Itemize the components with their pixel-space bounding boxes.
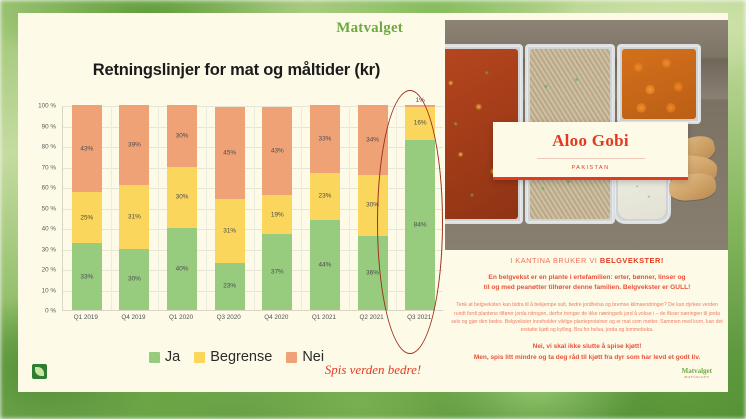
bar-segment-beg[interactable]: 19% xyxy=(262,195,292,234)
bar-value-label: 43% xyxy=(72,145,102,152)
bar-segment-beg[interactable]: 31% xyxy=(215,199,245,263)
lead-line-2: til og med peanøtter tilhører denne fami… xyxy=(451,283,723,293)
footer-slogan: Spis verden bedre! xyxy=(18,362,728,378)
y-axis-tick: 70 % xyxy=(42,164,56,171)
bar-stack[interactable]: 30%31%39% xyxy=(119,105,149,310)
y-axis-tick: 60 % xyxy=(42,185,56,192)
bar-segment-ja[interactable]: 30% xyxy=(119,249,149,311)
lead-line-1: En belgvekst er en plante i ertefamilien… xyxy=(451,273,723,283)
bar-segment-nei[interactable]: 43% xyxy=(262,107,292,195)
bar-segment-beg[interactable]: 16% xyxy=(405,107,435,139)
bar-segment-beg[interactable]: 25% xyxy=(72,192,102,243)
gridline-vertical xyxy=(206,106,207,310)
x-axis-tick: Q3 2020 xyxy=(206,314,252,321)
bar-value-label: 33% xyxy=(310,135,340,142)
bar-value-label: 30% xyxy=(167,132,197,139)
gridline-vertical xyxy=(349,106,350,310)
bar-value-label: 30% xyxy=(119,276,149,283)
x-axis-tick: Q4 2019 xyxy=(110,314,156,321)
y-axis: 0 %10 %20 %30 %40 %50 %60 %70 %80 %90 %1… xyxy=(26,106,60,311)
y-axis-tick: 50 % xyxy=(42,205,56,212)
y-axis-tick: 0 % xyxy=(45,308,56,315)
bar-segment-ja[interactable]: 44% xyxy=(310,220,340,310)
bar-stack[interactable]: 44%23%33% xyxy=(310,105,340,310)
y-axis-tick: 10 % xyxy=(42,287,56,294)
food-photograph: Aloo Gobi PAKISTAN xyxy=(445,20,728,250)
gridline-vertical xyxy=(158,106,159,310)
dish-name: Aloo Gobi xyxy=(493,131,688,151)
chart-panel: Matvalget Retningslinjer for mat og målt… xyxy=(18,13,455,392)
footer-brand-sub: MATVALGET xyxy=(682,375,712,379)
bar-stack[interactable]: 37%19%43% xyxy=(262,105,292,310)
chart-title: Retningslinjer for mat og måltider (kr) xyxy=(18,61,455,80)
poster-lead: En belgvekst er en plante i ertefamilien… xyxy=(451,273,723,293)
bar-segment-nei[interactable]: 45% xyxy=(215,107,245,199)
bar-segment-ja[interactable]: 40% xyxy=(167,228,197,310)
poster-text-block: I KANTINA BRUKER VI BELGVEKSTER! En belg… xyxy=(451,256,723,363)
carrot-dish xyxy=(622,49,696,119)
bar-value-label: 19% xyxy=(262,211,292,218)
bar-value-label: 44% xyxy=(310,261,340,268)
bar-segment-nei[interactable]: 34% xyxy=(358,105,388,175)
bar-value-label: 1% xyxy=(405,97,435,104)
x-axis-tick: Q3 2021 xyxy=(396,314,442,321)
y-axis-tick: 100 % xyxy=(38,103,56,110)
bar-stack[interactable]: 36%30%34% xyxy=(358,105,388,310)
bar-stack[interactable]: 23%31%45% xyxy=(215,105,245,310)
matvalget-logo-footer: Matvalget MATVALGET xyxy=(682,367,712,379)
y-axis-tick: 30 % xyxy=(42,246,56,253)
bar-value-label: 84% xyxy=(405,221,435,228)
bar-segment-ja[interactable]: 33% xyxy=(72,243,102,310)
x-axis-tick: Q2 2021 xyxy=(349,314,395,321)
closing-line-1: Nei, vi skal ikke slutte å spise kjøtt! xyxy=(451,342,723,352)
bar-segment-beg[interactable]: 30% xyxy=(358,175,388,237)
bar-stack[interactable]: 40%30%30% xyxy=(167,105,197,310)
dish-name-card: Aloo Gobi PAKISTAN xyxy=(493,122,688,180)
bar-value-label: 23% xyxy=(310,193,340,200)
bar-value-label: 37% xyxy=(262,269,292,276)
dish-country: PAKISTAN xyxy=(493,165,688,171)
bar-value-label: 30% xyxy=(358,202,388,209)
y-axis-tick: 80 % xyxy=(42,144,56,151)
gridline-vertical xyxy=(111,106,112,310)
divider xyxy=(537,158,645,159)
gridline-vertical xyxy=(396,106,397,310)
bar-stack[interactable]: 84%16%1% xyxy=(405,105,435,310)
bar-segment-beg[interactable]: 23% xyxy=(310,173,340,220)
bar-segment-nei[interactable]: 1% xyxy=(405,105,435,107)
y-axis-tick: 40 % xyxy=(42,226,56,233)
slide-footer: Spis verden bedre! Matvalget MATVALGET xyxy=(18,360,728,386)
bar-value-label: 25% xyxy=(72,214,102,221)
matvalget-logo-header: Matvalget xyxy=(336,20,403,37)
chart-plot-area: 0 %10 %20 %30 %40 %50 %60 %70 %80 %90 %1… xyxy=(26,106,451,346)
bar-value-label: 30% xyxy=(167,194,197,201)
bar-value-label: 33% xyxy=(72,273,102,280)
y-axis-tick: 20 % xyxy=(42,267,56,274)
bar-segment-ja[interactable]: 37% xyxy=(262,234,292,310)
bar-segment-beg[interactable]: 31% xyxy=(119,185,149,249)
bar-value-label: 40% xyxy=(167,266,197,273)
bar-segment-ja[interactable]: 23% xyxy=(215,263,245,310)
x-axis-tick: Q1 2021 xyxy=(301,314,347,321)
x-axis-tick: Q1 2020 xyxy=(158,314,204,321)
poster-panel: Aloo Gobi PAKISTAN I KANTINA BRUKER VI B… xyxy=(445,13,728,392)
tray-carrots xyxy=(617,44,701,124)
footer-brand-name: Matvalget xyxy=(682,367,712,375)
x-axis-tick: Q4 2020 xyxy=(253,314,299,321)
plot-canvas: 33%25%43%30%31%39%40%30%30%23%31%45%37%1… xyxy=(62,106,443,311)
bar-value-label: 34% xyxy=(358,136,388,143)
poster-headline: I KANTINA BRUKER VI BELGVEKSTER! xyxy=(451,256,723,265)
bar-segment-ja[interactable]: 36% xyxy=(358,236,388,310)
bar-segment-nei[interactable]: 30% xyxy=(167,105,197,167)
bar-value-label: 31% xyxy=(119,213,149,220)
bar-value-label: 39% xyxy=(119,141,149,148)
bar-value-label: 36% xyxy=(358,270,388,277)
x-axis: Q1 2019Q4 2019Q1 2020Q3 2020Q4 2020Q1 20… xyxy=(62,314,443,328)
bar-segment-ja[interactable]: 84% xyxy=(405,140,435,311)
bar-value-label: 45% xyxy=(215,150,245,157)
gridline-vertical xyxy=(254,106,255,310)
bar-value-label: 23% xyxy=(215,283,245,290)
x-axis-tick: Q1 2019 xyxy=(63,314,109,321)
bar-segment-nei[interactable]: 39% xyxy=(119,105,149,185)
headline-prefix: I KANTINA BRUKER VI xyxy=(510,256,600,265)
bar-stack[interactable]: 33%25%43% xyxy=(72,105,102,310)
bar-segment-nei[interactable]: 43% xyxy=(72,105,102,192)
bar-segment-beg[interactable]: 30% xyxy=(167,167,197,229)
presentation-slide: Matvalget Retningslinjer for mat og målt… xyxy=(18,13,728,392)
headline-emphasis: BELGVEKSTER! xyxy=(600,256,664,265)
y-axis-tick: 90 % xyxy=(42,123,56,130)
poster-body-text: Tenk at belgveksten kan bidra til å bekj… xyxy=(451,301,723,334)
bar-value-label: 16% xyxy=(405,120,435,127)
bar-value-label: 43% xyxy=(262,148,292,155)
gridline-vertical xyxy=(301,106,302,310)
bar-segment-nei[interactable]: 33% xyxy=(310,105,340,173)
bar-value-label: 31% xyxy=(215,228,245,235)
